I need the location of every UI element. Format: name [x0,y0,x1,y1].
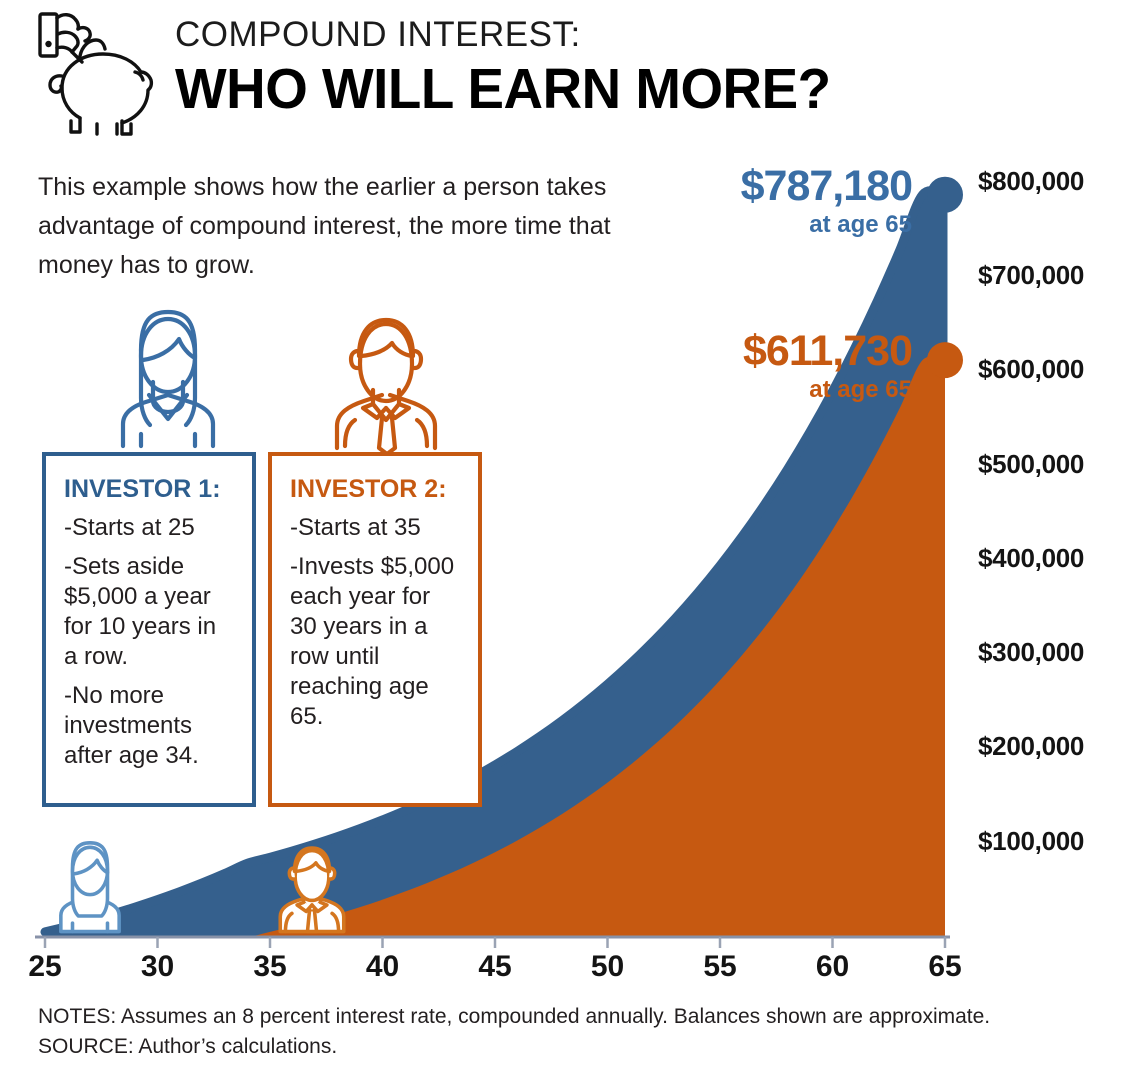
investor-1-line-1: -Starts at 25 [64,513,236,543]
y-axis-tick-700000: $700,000 [978,260,1084,291]
x-axis-tick-50: 50 [591,950,624,984]
investor-2-heading: INVESTOR 2: [290,474,462,504]
y-axis-tick-300000: $300,000 [978,637,1084,668]
investor-1-heading: INVESTOR 1: [64,474,236,504]
callout-investor-2-age: at age 65 [430,376,912,404]
baseline-avatar-male-icon [266,838,358,937]
baseline-avatar-female-icon [44,838,136,937]
x-axis-tick-65: 65 [928,950,961,984]
callout-investor-1: $787,180 at age 65 [430,163,912,239]
x-axis-tick-40: 40 [366,950,399,984]
investor-1-box: INVESTOR 1: -Starts at 25 -Sets aside $5… [42,452,256,807]
x-axis-tick-25: 25 [28,950,61,984]
callout-investor-1-amount: $787,180 [430,163,912,209]
investor-2-line-2: -Invests $5,000 each year for 30 years i… [290,552,462,732]
x-axis-tick-45: 45 [478,950,511,984]
y-axis-tick-200000: $200,000 [978,731,1084,762]
x-axis-tick-35: 35 [253,950,286,984]
source-line: SOURCE: Author’s calculations. [38,1032,1098,1062]
y-axis-tick-800000: $800,000 [978,166,1084,197]
investor-1-avatar-female-icon [97,306,239,456]
x-axis-tick-60: 60 [816,950,849,984]
y-axis-tick-500000: $500,000 [978,449,1084,480]
x-axis-tick-55: 55 [703,950,736,984]
investor-2-line-1: -Starts at 35 [290,513,462,543]
y-axis-tick-100000: $100,000 [978,826,1084,857]
callout-investor-2-amount: $611,730 [430,328,912,374]
x-axis-tick-30: 30 [141,950,174,984]
investor-2-avatar-male-icon [315,306,457,456]
y-axis-tick-400000: $400,000 [978,543,1084,574]
investor-1-line-2: -Sets aside $5,000 a year for 10 years i… [64,552,236,672]
y-axis-tick-600000: $600,000 [978,354,1084,385]
callout-investor-1-age: at age 65 [430,211,912,239]
investor-2-box: INVESTOR 2: -Starts at 35 -Invests $5,00… [268,452,482,807]
footer-notes: NOTES: Assumes an 8 percent interest rat… [38,1002,1098,1062]
callout-investor-2: $611,730 at age 65 [430,328,912,404]
investor-1-line-3: -No more investments after age 34. [64,681,236,771]
notes-line: NOTES: Assumes an 8 percent interest rat… [38,1002,1098,1032]
